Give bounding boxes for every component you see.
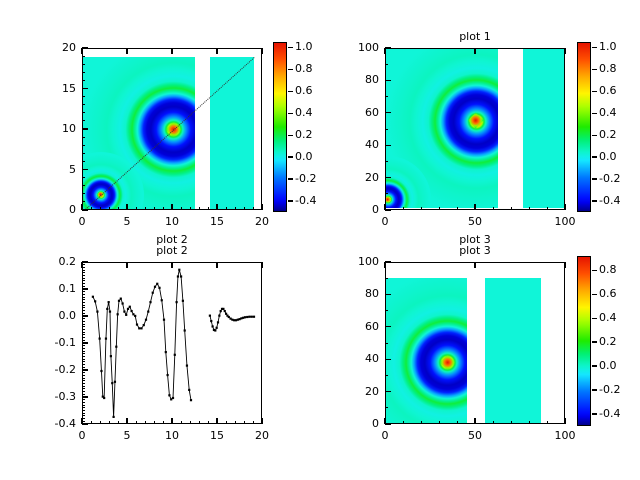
x-tick-major — [261, 204, 262, 210]
colorbar-tick — [592, 91, 597, 92]
y-tick-minor — [82, 324, 85, 325]
x-tick-minor — [100, 207, 101, 210]
series-marker — [103, 397, 105, 399]
y-tick-major — [385, 294, 391, 295]
x-tick-label: 0 — [355, 215, 415, 228]
colorbar-tick — [288, 135, 293, 136]
x-tick-minor — [403, 207, 404, 210]
y-tick-minor — [385, 129, 388, 130]
panel-bottom-left-axes — [82, 262, 262, 424]
y-tick-minor — [385, 193, 388, 194]
colorbar-tick-label: -0.4 — [295, 194, 316, 207]
x-tick-major — [171, 204, 172, 210]
series-marker — [115, 346, 117, 348]
y-tick-major — [385, 209, 391, 210]
y-tick-minor — [82, 383, 85, 384]
x-tick-minor — [226, 421, 227, 424]
x-tick-minor — [199, 207, 200, 210]
x-tick-major — [81, 48, 82, 54]
series-marker — [110, 355, 112, 357]
series-marker — [212, 325, 214, 327]
y-tick-minor — [82, 297, 85, 298]
series-marker — [140, 327, 142, 329]
x-tick-major — [216, 418, 217, 424]
x-tick-minor — [253, 207, 254, 210]
y-tick-label: 100 — [323, 41, 379, 54]
colorbar-tick-label: 0.2 — [599, 128, 617, 141]
colorbar-tick-label: 1.0 — [295, 40, 313, 53]
series-marker — [152, 292, 154, 294]
y-tick-minor — [82, 351, 85, 352]
colorbar-tick — [592, 69, 597, 70]
y-tick-minor — [82, 367, 85, 368]
colorbar-tick — [288, 91, 293, 92]
x-tick-minor — [403, 421, 404, 424]
heatmap-block — [485, 278, 541, 424]
heatmap-block — [386, 49, 498, 208]
colorbar-tick — [592, 318, 597, 319]
series-marker — [100, 370, 102, 372]
y-tick-major — [82, 47, 88, 48]
y-tick-minor — [82, 80, 85, 81]
x-tick-label: 0 — [355, 429, 415, 442]
series-marker — [149, 301, 151, 303]
y-tick-major — [82, 261, 88, 262]
y-tick-minor — [82, 386, 85, 387]
y-tick-minor — [82, 318, 85, 319]
series-marker — [158, 287, 160, 289]
series-marker — [92, 296, 94, 298]
series-marker — [216, 327, 218, 329]
x-tick-major — [126, 204, 127, 210]
x-tick-minor — [439, 207, 440, 210]
x-tick-major — [474, 418, 475, 424]
y-tick-minor — [82, 177, 85, 178]
series-marker — [178, 269, 180, 271]
y-tick-minor — [82, 153, 85, 154]
series-marker — [251, 316, 253, 318]
y-tick-minor — [82, 161, 85, 162]
series-marker — [248, 316, 250, 318]
y-tick-major — [82, 342, 88, 343]
y-tick-minor — [82, 337, 85, 338]
colorbar-tick-label: -0.4 — [599, 194, 620, 207]
colorbar-tick — [592, 200, 597, 201]
y-tick-label: -0.4 — [20, 417, 76, 430]
y-tick-minor — [82, 313, 85, 314]
x-tick-major — [474, 262, 475, 268]
y-tick-minor — [385, 407, 388, 408]
x-tick-minor — [235, 421, 236, 424]
y-tick-minor — [82, 286, 85, 287]
series-marker — [165, 351, 167, 353]
y-tick-minor — [82, 310, 85, 311]
y-tick-minor — [82, 399, 85, 400]
y-tick-label: -0.1 — [20, 336, 76, 349]
y-tick-minor — [82, 120, 85, 121]
x-tick-minor — [181, 421, 182, 424]
y-tick-minor — [82, 345, 85, 346]
colorbar-tick-label: 0.6 — [295, 84, 313, 97]
y-tick-major — [385, 47, 391, 48]
series-marker — [147, 311, 149, 313]
series-marker — [136, 323, 138, 325]
y-tick-minor — [82, 104, 85, 105]
series-marker — [99, 338, 101, 340]
series-marker — [217, 321, 219, 323]
colorbar-tick — [592, 341, 597, 342]
y-tick-major — [82, 209, 88, 210]
y-tick-minor — [385, 64, 388, 65]
colorbar-tick-label: 1.0 — [599, 40, 617, 53]
x-tick-major — [171, 262, 172, 268]
y-tick-minor — [82, 326, 85, 327]
colorbar-tick-label: -0.4 — [599, 407, 620, 420]
y-tick-minor — [82, 364, 85, 365]
y-tick-minor — [82, 270, 85, 271]
y-tick-major — [385, 391, 391, 392]
series-marker — [209, 315, 211, 317]
x-tick-minor — [145, 421, 146, 424]
y-tick-minor — [82, 415, 85, 416]
series-marker — [156, 283, 158, 285]
x-tick-major — [171, 48, 172, 54]
series-marker — [172, 397, 174, 399]
series-marker — [125, 314, 127, 316]
y-tick-label: 0 — [20, 203, 76, 216]
y-tick-minor — [82, 361, 85, 362]
x-tick-major — [261, 262, 262, 268]
y-tick-major — [385, 112, 391, 113]
x-tick-minor — [235, 207, 236, 210]
x-tick-major — [384, 48, 385, 54]
y-tick-minor — [82, 302, 85, 303]
y-tick-minor — [82, 299, 85, 300]
y-tick-minor — [82, 185, 85, 186]
y-tick-minor — [82, 391, 85, 392]
x-tick-label: 20 — [232, 215, 292, 228]
series-marker — [122, 302, 124, 304]
x-tick-minor — [421, 421, 422, 424]
colorbar-tick — [592, 413, 597, 414]
colorbar-tick-label: 0.6 — [599, 287, 617, 300]
y-tick-minor — [82, 267, 85, 268]
y-tick-major — [82, 88, 88, 89]
y-tick-major — [385, 177, 391, 178]
colorbar-tick-label: 0.0 — [599, 359, 617, 372]
x-tick-minor — [208, 207, 209, 210]
series-marker — [105, 338, 107, 340]
y-tick-major — [385, 423, 391, 424]
y-tick-label: 0.0 — [20, 309, 76, 322]
x-tick-minor — [226, 207, 227, 210]
x-tick-major — [474, 48, 475, 54]
x-tick-minor — [244, 421, 245, 424]
x-tick-major — [564, 262, 565, 268]
series-marker — [220, 310, 222, 312]
series-marker — [253, 316, 255, 318]
y-tick-minor — [82, 378, 85, 379]
colorbar-tick — [288, 69, 293, 70]
x-tick-minor — [547, 207, 548, 210]
y-tick-minor — [82, 64, 85, 65]
y-tick-minor — [385, 343, 388, 344]
x-tick-minor — [457, 421, 458, 424]
y-tick-minor — [82, 294, 85, 295]
x-tick-minor — [190, 207, 191, 210]
x-tick-label: 20 — [232, 429, 292, 442]
y-tick-major — [82, 423, 88, 424]
series-marker — [186, 365, 188, 367]
series-marker — [145, 319, 147, 321]
series-marker — [131, 310, 133, 312]
x-tick-label: 100 — [535, 215, 595, 228]
colorbar-tick-label: 0.0 — [599, 150, 617, 163]
series-marker — [134, 315, 136, 317]
colorbar-tick — [592, 113, 597, 114]
panel-bottom-right-axes — [385, 262, 565, 424]
series-marker — [154, 286, 156, 288]
y-tick-major — [82, 369, 88, 370]
x-tick-major — [216, 262, 217, 268]
y-tick-major — [82, 396, 88, 397]
x-tick-minor — [181, 207, 182, 210]
line-series-svg — [83, 263, 262, 424]
x-tick-major — [126, 262, 127, 268]
series-marker — [224, 310, 226, 312]
colorbar-tick — [592, 270, 597, 271]
panel-top-right-title: plot 1 — [415, 30, 535, 43]
x-tick-minor — [163, 421, 164, 424]
y-tick-minor — [82, 272, 85, 273]
y-tick-label: -0.2 — [20, 363, 76, 376]
y-tick-minor — [82, 332, 85, 333]
heatmap-block — [83, 57, 195, 210]
x-tick-minor — [109, 207, 110, 210]
y-tick-major — [385, 261, 391, 262]
y-tick-minor — [82, 413, 85, 414]
series-marker — [244, 316, 246, 318]
series-marker — [218, 315, 220, 317]
colorbar-tick-label: -0.2 — [599, 172, 620, 185]
series-marker — [111, 382, 113, 384]
colorbar — [577, 42, 591, 212]
y-tick-minor — [82, 307, 85, 308]
y-tick-minor — [82, 421, 85, 422]
x-tick-major — [564, 48, 565, 54]
y-tick-label: 40 — [323, 352, 379, 365]
colorbar-tick — [288, 178, 293, 179]
series-marker — [96, 311, 98, 313]
colorbar-tick — [288, 156, 293, 157]
y-tick-minor — [82, 305, 85, 306]
colorbar-tick-label: 0.4 — [599, 106, 617, 119]
y-tick-minor — [82, 405, 85, 406]
y-tick-minor — [82, 402, 85, 403]
series-marker — [184, 329, 186, 331]
x-tick-major — [216, 204, 217, 210]
y-tick-minor — [82, 348, 85, 349]
x-tick-minor — [439, 421, 440, 424]
colorbar-tick-label: 0.0 — [295, 150, 313, 163]
colorbar — [273, 42, 287, 212]
x-tick-minor — [511, 207, 512, 210]
series-marker — [222, 308, 224, 310]
series-marker — [180, 275, 182, 277]
heatmap-block — [210, 57, 254, 210]
colorbar-tick-label: 0.4 — [295, 106, 313, 119]
series-marker — [127, 308, 129, 310]
x-tick-minor — [511, 421, 512, 424]
colorbar-tick — [592, 47, 597, 48]
x-tick-major — [261, 48, 262, 54]
y-tick-major — [82, 128, 88, 129]
x-tick-minor — [118, 207, 119, 210]
y-tick-minor — [82, 112, 85, 113]
x-tick-major — [564, 418, 565, 424]
y-tick-label: 60 — [323, 320, 379, 333]
series-marker — [117, 313, 119, 315]
heatmap-block — [523, 49, 564, 208]
series-marker — [210, 320, 212, 322]
x-tick-minor — [136, 421, 137, 424]
series-marker — [161, 299, 163, 301]
series-marker — [106, 308, 108, 310]
y-tick-minor — [82, 388, 85, 389]
x-tick-minor — [244, 207, 245, 210]
source-lobe — [386, 278, 467, 424]
y-tick-label: 0.2 — [20, 255, 76, 268]
y-tick-label: 5 — [20, 163, 76, 176]
y-tick-minor — [82, 201, 85, 202]
y-tick-minor — [82, 264, 85, 265]
colorbar-tick-label: 0.4 — [599, 311, 617, 324]
x-tick-major — [384, 262, 385, 268]
x-tick-major — [564, 204, 565, 210]
y-tick-minor — [82, 283, 85, 284]
y-tick-minor — [385, 278, 388, 279]
x-tick-major — [474, 204, 475, 210]
colorbar-tick-label: 0.2 — [295, 128, 313, 141]
x-tick-minor — [421, 207, 422, 210]
series-marker — [109, 311, 111, 313]
y-tick-minor — [82, 380, 85, 381]
colorbar-tick-label: 0.6 — [599, 84, 617, 97]
colorbar-tick — [592, 178, 597, 179]
series-marker — [123, 311, 125, 313]
x-tick-label: 100 — [535, 429, 595, 442]
x-tick-minor — [100, 421, 101, 424]
series-marker — [129, 306, 131, 308]
panel-top-right-axes — [385, 48, 565, 210]
panel-bottom-right-title: plot 3 — [415, 244, 535, 257]
x-tick-major — [126, 418, 127, 424]
series-marker — [190, 399, 192, 401]
colorbar-tick — [592, 365, 597, 366]
series-marker — [182, 300, 184, 302]
colorbar-tick-label: 0.8 — [599, 62, 617, 75]
y-tick-minor — [82, 407, 85, 408]
y-tick-label: 0 — [323, 203, 379, 216]
y-tick-major — [82, 315, 88, 316]
y-tick-minor — [82, 375, 85, 376]
x-tick-minor — [145, 207, 146, 210]
x-tick-minor — [91, 421, 92, 424]
y-tick-minor — [385, 161, 388, 162]
x-tick-minor — [529, 421, 530, 424]
x-tick-major — [126, 48, 127, 54]
y-tick-label: 0.1 — [20, 282, 76, 295]
series-marker — [138, 327, 140, 329]
series-marker — [114, 381, 116, 383]
heatmap-block — [386, 278, 467, 424]
series-marker — [168, 394, 170, 396]
x-tick-minor — [154, 421, 155, 424]
y-tick-minor — [82, 280, 85, 281]
x-tick-minor — [154, 207, 155, 210]
y-tick-minor — [82, 193, 85, 194]
y-tick-label: 100 — [323, 255, 379, 268]
y-tick-minor — [82, 137, 85, 138]
y-tick-minor — [82, 410, 85, 411]
colorbar-tick — [592, 389, 597, 390]
y-tick-minor — [82, 353, 85, 354]
colorbar-tick — [288, 200, 293, 201]
x-tick-minor — [547, 421, 548, 424]
x-tick-minor — [190, 421, 191, 424]
x-tick-minor — [136, 207, 137, 210]
x-tick-minor — [109, 421, 110, 424]
y-tick-label: 15 — [20, 82, 76, 95]
series-marker — [108, 301, 110, 303]
y-tick-label: 20 — [323, 385, 379, 398]
y-tick-minor — [82, 418, 85, 419]
y-tick-label: 20 — [20, 41, 76, 54]
y-tick-label: 40 — [323, 138, 379, 151]
x-tick-major — [216, 48, 217, 54]
series-marker — [143, 324, 145, 326]
y-tick-minor — [82, 291, 85, 292]
y-tick-major — [385, 359, 391, 360]
y-tick-minor — [385, 96, 388, 97]
series-marker — [94, 300, 96, 302]
colorbar-tick — [592, 294, 597, 295]
series-marker — [176, 301, 178, 303]
y-tick-major — [82, 169, 88, 170]
series-marker — [167, 374, 169, 376]
y-tick-minor — [82, 372, 85, 373]
colorbar-tick — [592, 135, 597, 136]
y-tick-label: 20 — [323, 171, 379, 184]
x-tick-minor — [253, 421, 254, 424]
y-tick-minor — [385, 310, 388, 311]
y-tick-label: 60 — [323, 106, 379, 119]
y-tick-minor — [82, 359, 85, 360]
series-marker — [163, 319, 165, 321]
y-tick-minor — [82, 394, 85, 395]
x-tick-minor — [163, 207, 164, 210]
colorbar-tick-label: 0.8 — [295, 62, 313, 75]
x-tick-minor — [91, 207, 92, 210]
series-marker — [118, 300, 120, 302]
y-tick-minor — [82, 145, 85, 146]
series-marker — [120, 298, 122, 300]
x-tick-major — [171, 418, 172, 424]
y-tick-major — [385, 326, 391, 327]
x-tick-label: 50 — [445, 429, 505, 442]
y-tick-label: 80 — [323, 73, 379, 86]
y-tick-label: 80 — [323, 287, 379, 300]
